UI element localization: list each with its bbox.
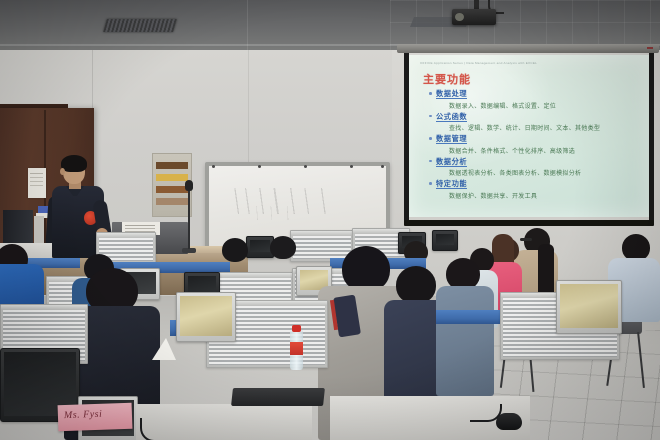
- slide-bullet: 公式函数 查找、逻辑、数学、统计、日期时间、文本、其他类型: [427, 112, 643, 133]
- bullet-sub: 数据透视表分析、各类图表分析、数据模拟分析: [427, 168, 643, 177]
- whiteboard-clip: [258, 165, 261, 168]
- bullet-sub: 数据保护、数据共享、开发工具: [427, 191, 643, 200]
- podium-paper-lines: [125, 225, 155, 226]
- bullet-heading: 公式函数: [427, 112, 643, 122]
- attendee-head: [222, 238, 248, 262]
- ceiling-vent-icon: [103, 19, 177, 32]
- attendee-head: [622, 234, 650, 261]
- bullet-heading: 数据处理: [427, 89, 643, 99]
- bullet-heading: 数据分析: [427, 157, 643, 167]
- screen-roller-housing: [397, 44, 659, 53]
- attendee-torso: [436, 286, 494, 396]
- whiteboard-clip: [304, 165, 307, 168]
- ceiling-seam-vertical: [247, 0, 248, 52]
- whiteboard-clip: [381, 165, 384, 168]
- presenter-ear: [60, 168, 65, 175]
- computer-mouse: [496, 413, 522, 430]
- slide-bullet: 数据处理 数据录入、数据编辑、格式设置、定位: [427, 89, 643, 110]
- bullet-sub: 数据合并、条件格式、个性化排序、高级筛选: [427, 146, 643, 155]
- classroom-photo: OFFICE Application Series | Data Managem…: [0, 0, 660, 440]
- eyeglasses-icon: [520, 238, 532, 241]
- whiteboard-clip: [212, 165, 215, 168]
- slide-title: 主要功能: [423, 71, 471, 87]
- slide-bullet: 特定功能 数据保护、数据共享、开发工具: [427, 179, 643, 200]
- microphone-icon: [185, 180, 193, 191]
- pink-desk-label: Ms. Fysi: [58, 403, 133, 432]
- water-bottle-cap: [292, 325, 301, 332]
- slide-surface: OFFICE Application Series | Data Managem…: [409, 55, 649, 217]
- whiteboard-clip: [350, 165, 353, 168]
- partition-glass: [293, 236, 351, 259]
- slide-bullet-list: 数据处理 数据录入、数据编辑、格式设置、定位 公式函数 查找、逻辑、数学、统计、…: [427, 89, 643, 202]
- slide-bullet: 数据分析 数据透视表分析、各类图表分析、数据模拟分析: [427, 157, 643, 178]
- bullet-heading: 数据管理: [427, 134, 643, 144]
- attendee-torso: [0, 264, 44, 308]
- bullet-sub: 数据录入、数据编辑、格式设置、定位: [427, 101, 643, 110]
- screen-roller-indicator: [647, 47, 653, 49]
- workstation-monitor: [432, 230, 458, 251]
- screen-bottom-bar: [404, 220, 654, 226]
- posted-notice-lines: [30, 173, 43, 174]
- microphone-stem: [188, 186, 190, 249]
- slide-bullet: 数据管理 数据合并、条件格式、个性化排序、高级筛选: [427, 134, 643, 155]
- attendee-head: [270, 236, 296, 259]
- pink-desk-label-text: Ms. Fysi: [64, 409, 103, 421]
- bullet-heading: 特定功能: [427, 179, 643, 189]
- attendee-head: [396, 266, 436, 304]
- workstation-monitor: [176, 292, 236, 342]
- projector-lens-icon: [455, 13, 464, 21]
- projection-screen: OFFICE Application Series | Data Managem…: [400, 44, 658, 226]
- workstation-monitor: [556, 280, 622, 334]
- screen-edge-right: [649, 53, 654, 221]
- presenter-hair: [61, 155, 87, 172]
- keyboard: [231, 388, 325, 406]
- water-bottle-label: [290, 342, 303, 355]
- whiteboard-erased-writing: [252, 206, 316, 220]
- slide-header-text: OFFICE Application Series | Data Managem…: [420, 61, 643, 65]
- paper-name-tent: [152, 338, 176, 360]
- bullet-sub: 查找、逻辑、数学、统计、日期时间、文本、其他类型: [427, 123, 643, 132]
- cable: [140, 418, 176, 440]
